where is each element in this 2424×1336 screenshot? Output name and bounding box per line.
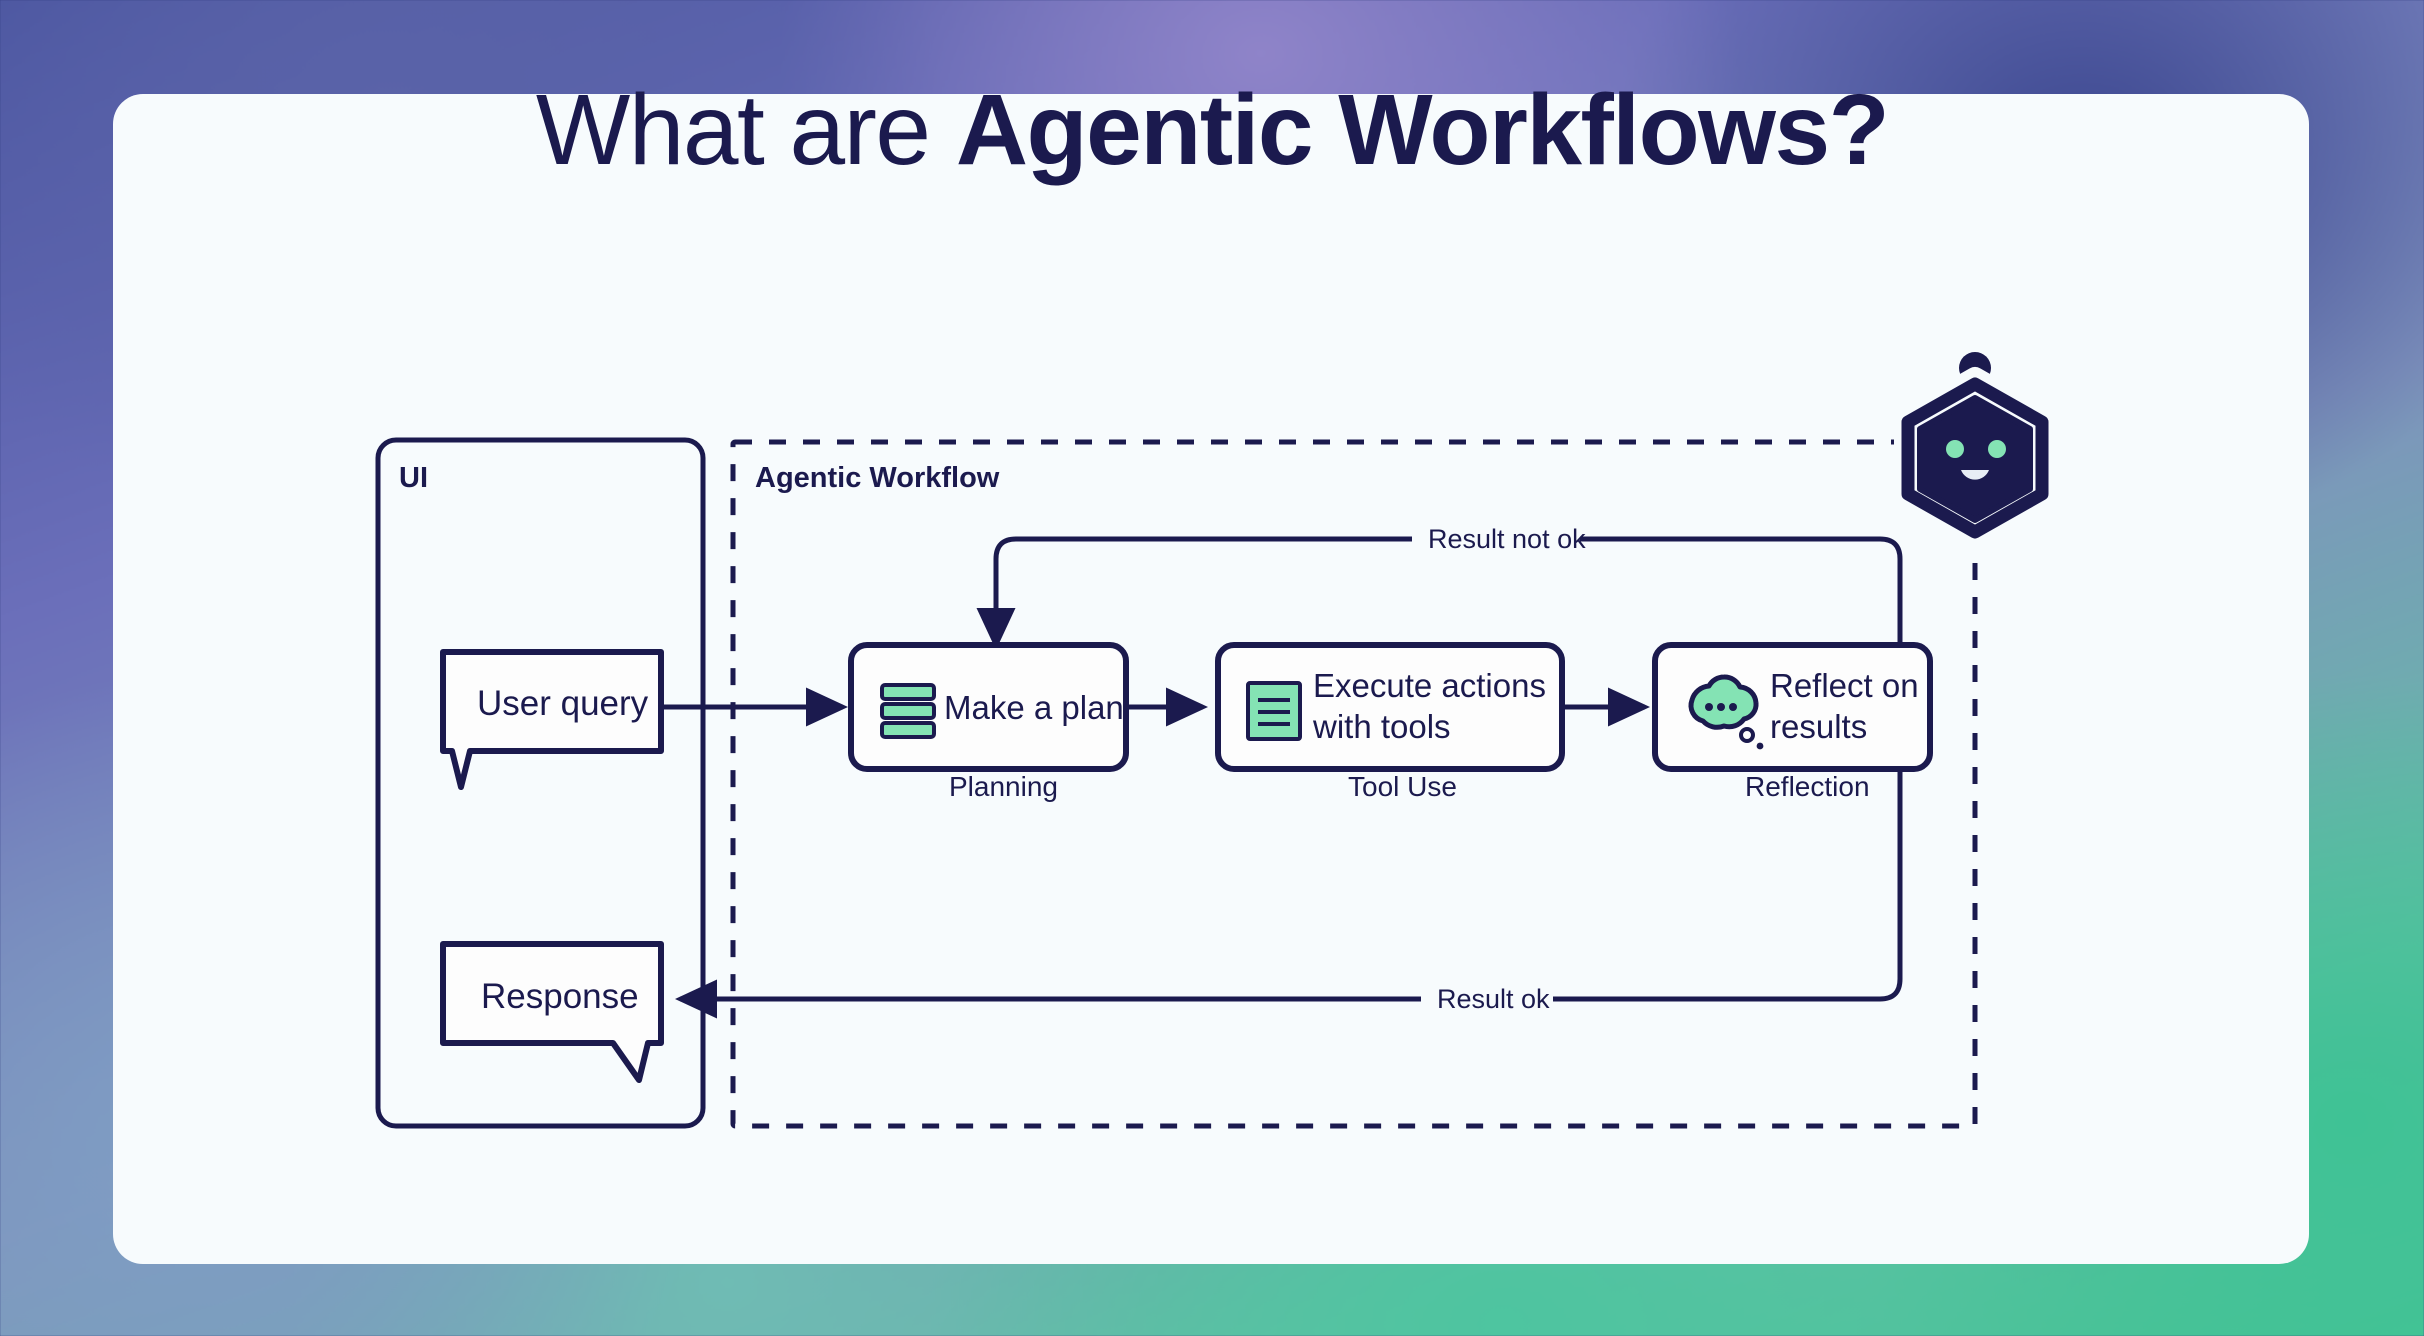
slide-canvas: What are Agentic Workflows? [0, 0, 2424, 1336]
ui-container-label: UI [399, 462, 428, 495]
node-caption-tool-use: Tool Use [1348, 771, 1457, 803]
node-reflect-label-line1: Reflect on [1770, 665, 1919, 706]
node-execute-actions-label-line1: Execute actions [1313, 665, 1546, 706]
page-title-light: What are [536, 74, 956, 186]
node-execute-actions-label-line2: with tools [1313, 706, 1451, 747]
user-query-bubble-label: User query [477, 684, 648, 724]
node-caption-reflection: Reflection [1745, 771, 1870, 803]
node-reflect-label-line2: results [1770, 706, 1867, 747]
page-title: What are Agentic Workflows? [0, 78, 2424, 183]
agentic-workflow-container-label: Agentic Workflow [755, 462, 999, 495]
edge-label-result-ok: Result ok [1437, 984, 1550, 1015]
node-caption-planning: Planning [949, 771, 1058, 803]
page-title-bold: Agentic Workflows? [956, 74, 1888, 186]
response-bubble-label: Response [481, 977, 639, 1017]
content-card [113, 94, 2309, 1264]
edge-label-result-not-ok: Result not ok [1428, 524, 1586, 555]
node-make-a-plan-label: Make a plan [944, 687, 1124, 728]
